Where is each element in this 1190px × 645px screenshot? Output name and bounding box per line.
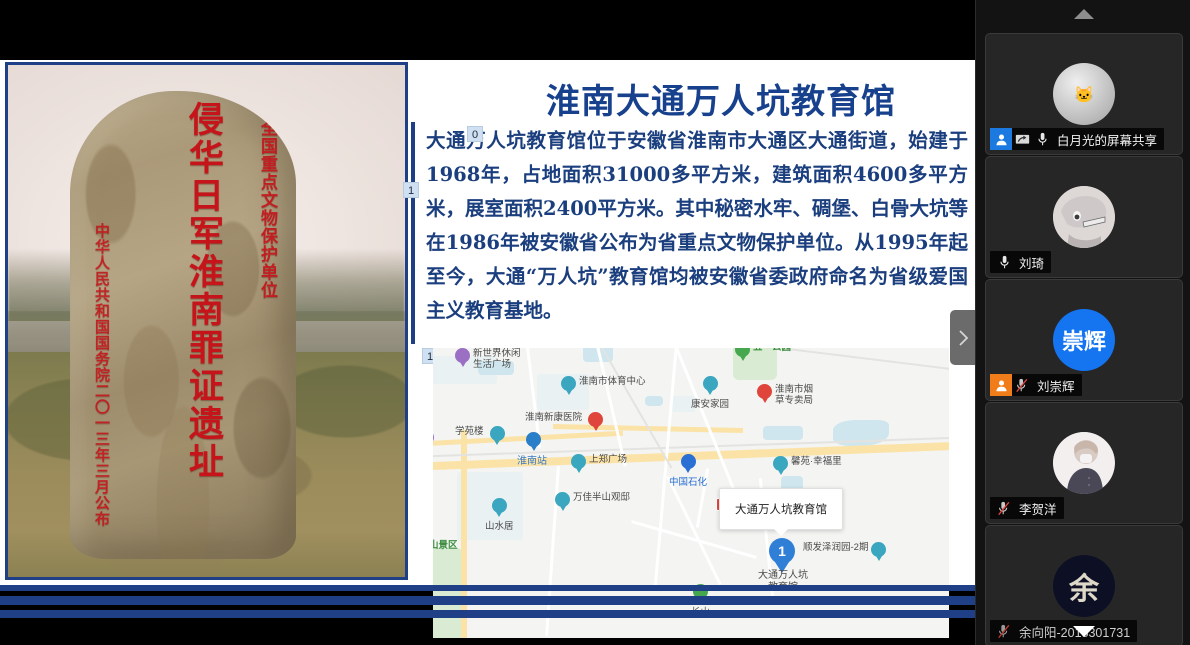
map-poi-label: 五一公园	[753, 348, 791, 353]
map-poi[interactable]: 中国石化	[669, 454, 707, 488]
stone-monument: 侵华日军淮南罪证遗址 全国重点文物保护单位 中华人民共和国国务院二〇一三年三月公…	[70, 91, 296, 559]
microphone-muted-icon	[1012, 374, 1032, 396]
map-poi-label: 淮南新康医院	[525, 412, 582, 423]
map-station-marker[interactable]: ◎	[526, 432, 541, 447]
slide-body-text: 大通万人坑教育馆位于安徽省淮南市大通区大通街道，始建于1968年，占地面积310…	[426, 124, 968, 328]
participant-tile[interactable]: 🐱 白月光的屏幕共享	[985, 33, 1183, 155]
map-poi[interactable]: 顺发泽润园-2期	[803, 542, 886, 557]
map-poi-label: 顺发泽润园-2期	[803, 542, 868, 553]
monument-right-inscription: 全国重点文物保护单位	[255, 119, 280, 299]
participant-badge: 刘崇辉	[990, 374, 1082, 396]
microphone-icon	[1032, 128, 1052, 150]
map-poi-label: 上郑广场	[589, 454, 627, 465]
map-poi[interactable]: 康安家园	[691, 376, 729, 410]
conference-window: 侵华日军淮南罪证遗址 全国重点文物保护单位 中华人民共和国国务院二〇一三年三月公…	[0, 0, 1190, 645]
avatar-emoji: 🐱	[1074, 85, 1094, 104]
train-station-icon: ◎	[526, 432, 541, 447]
triangle-down-icon	[1072, 625, 1096, 638]
participant-badge: 李贺洋	[990, 497, 1064, 519]
map-water	[645, 396, 663, 406]
map-poi[interactable]: 万佳半山观邸	[555, 492, 630, 507]
avatar: 🐱	[1053, 63, 1115, 125]
person-icon	[990, 128, 1012, 150]
map-poi[interactable]: 馨苑·幸福里	[773, 456, 842, 471]
map-pin-icon	[490, 426, 505, 441]
monument-main-inscription: 侵华日军淮南罪证遗址	[178, 101, 229, 481]
map-pin-icon	[433, 430, 434, 445]
map-pin-icon	[561, 376, 576, 391]
microphone-icon	[994, 251, 1014, 273]
map-pin-icon	[455, 348, 470, 363]
map-poi-label: 中国石化	[669, 477, 707, 488]
map-poi[interactable]: 上郑广场	[571, 454, 627, 469]
map-poi-label: 淮南市烟 草专卖局	[775, 384, 813, 406]
map-poi[interactable]: 淮南市烟 草专卖局	[757, 384, 813, 406]
map-station-label: 淮南站	[517, 452, 547, 467]
map-pin-icon	[681, 454, 696, 469]
shared-screen-area[interactable]: 侵华日军淮南罪证遗址 全国重点文物保护单位 中华人民共和国国务院二〇一三年三月公…	[0, 0, 975, 645]
monument-photo: 侵华日军淮南罪证遗址 全国重点文物保护单位 中华人民共和国国务院二〇一三年三月公…	[5, 62, 408, 580]
footer-bar	[0, 585, 975, 591]
map-pin-icon	[757, 384, 772, 399]
participant-badge: 刘琦	[990, 251, 1051, 273]
map-pin-icon	[703, 376, 718, 391]
footer-bar	[0, 596, 975, 605]
participant-name: 李贺洋	[1014, 499, 1057, 518]
map-poi-label: 万佳半山观邸	[573, 492, 630, 503]
map-poi-label: 淮南市体育中心	[579, 376, 646, 387]
map-pin-icon	[571, 454, 586, 469]
avatar: 崇辉	[1053, 309, 1115, 371]
host-person-icon	[990, 374, 1012, 396]
participant-badge: 白月光的屏幕共享	[990, 128, 1164, 150]
map-poi[interactable]: 淮南新康医院✚	[525, 412, 603, 427]
microphone-muted-icon	[994, 497, 1014, 519]
participant-name: 刘琦	[1014, 253, 1044, 272]
map-water	[763, 426, 803, 440]
map-poi[interactable]: 五一公园	[735, 348, 791, 357]
map-street	[666, 476, 721, 585]
avatar-initials: 余	[1069, 564, 1099, 608]
next-slide-button[interactable]	[950, 310, 975, 365]
map-pin-icon	[555, 492, 570, 507]
map-poi[interactable]: 淮南市体育中心	[561, 376, 646, 391]
map-pin-icon	[492, 498, 507, 513]
map-scenic-label: 山景区	[433, 540, 458, 551]
map-poi[interactable]	[433, 430, 434, 445]
map-poi-label: 山水居	[485, 521, 514, 532]
map-poi-label: 康安家园	[691, 399, 729, 410]
animation-marker-0[interactable]: 0	[467, 126, 483, 142]
participant-tile[interactable]: 崇辉 刘崇辉	[985, 279, 1183, 401]
scroll-down-button[interactable]	[976, 617, 1190, 645]
monument-left-inscription: 中华人民共和国国务院二〇一三年三月公布	[92, 223, 113, 527]
map-poi-label: 新世界休闲 生活广场	[473, 348, 521, 370]
triangle-up-icon	[1073, 8, 1095, 20]
avatar: 余	[1053, 555, 1115, 617]
map-pin-icon	[773, 456, 788, 471]
accent-rule	[411, 122, 415, 344]
participant-name: 刘崇辉	[1032, 376, 1075, 395]
slide-title: 淮南大通万人坑教育馆	[476, 74, 966, 123]
map-pin-icon	[871, 542, 886, 557]
map-poi-label: 学苑楼	[455, 426, 484, 437]
animation-marker-1[interactable]: 1	[403, 182, 419, 198]
avatar	[1053, 432, 1115, 494]
avatar-initials: 崇辉	[1062, 324, 1106, 356]
avatar	[1053, 186, 1115, 248]
map-pin-icon: ✚	[588, 412, 603, 427]
map-poi-label: 馨苑·幸福里	[791, 456, 842, 467]
scroll-up-button[interactable]	[976, 0, 1190, 28]
participant-tile[interactable]: 刘琦	[985, 156, 1183, 278]
footer-bar	[0, 610, 975, 618]
map-pin-icon	[735, 348, 750, 357]
map-poi[interactable]: 学苑楼	[455, 426, 505, 441]
participant-rail[interactable]: 🐱 白月光的屏幕共享	[975, 0, 1190, 645]
map-poi[interactable]: 新世界休闲 生活广场	[455, 348, 521, 370]
map-poi[interactable]: 山水居	[485, 498, 514, 532]
participant-name: 白月光的屏幕共享	[1052, 130, 1157, 149]
screen-share-icon	[1012, 128, 1032, 150]
map-callout-bubble[interactable]: 大通万人坑教育馆	[719, 488, 843, 530]
map-selected-marker[interactable]: 1	[769, 538, 795, 564]
slide-footer-bars	[0, 581, 975, 621]
participant-tile[interactable]: 李贺洋	[985, 402, 1183, 524]
presentation-slide[interactable]: 侵华日军淮南罪证遗址 全国重点文物保护单位 中华人民共和国国务院二〇一三年三月公…	[0, 60, 975, 588]
